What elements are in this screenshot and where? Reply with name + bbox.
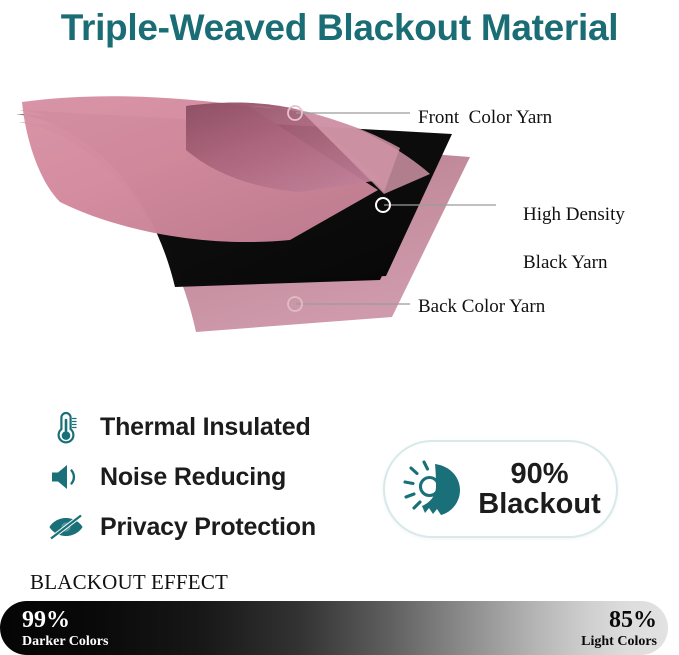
blackout-badge: 90% Blackout: [383, 440, 618, 538]
feature-list: Thermal Insulated Noise Reducing Privacy…: [46, 404, 376, 554]
callout-label-front-color-yarn: Front Color Yarn: [418, 106, 552, 130]
blackout-badge-percent: 90%: [471, 459, 608, 489]
callout-label-black-yarn-line2: Black Yarn: [523, 252, 607, 273]
feature-label-thermal-insulated: Thermal Insulated: [100, 413, 311, 442]
callout-label-back-color-yarn: Back Color Yarn: [418, 295, 545, 319]
page-title: Triple-Weaved Blackout Material: [0, 0, 679, 56]
feature-item-thermal-insulated: Thermal Insulated: [46, 404, 376, 450]
feature-label-noise-reducing: Noise Reducing: [100, 463, 286, 492]
thermometer-icon: [46, 407, 86, 447]
feature-item-noise-reducing: Noise Reducing: [46, 454, 376, 500]
callout-label-black-yarn: High Density Black Yarn: [504, 179, 625, 299]
callout-label-black-yarn-line1: High Density: [523, 204, 625, 225]
feature-item-privacy-protection: Privacy Protection: [46, 504, 376, 550]
blackout-effect-left-stat: 99% Darker Colors: [22, 608, 108, 649]
blackout-effect-right-label: Light Colors: [581, 635, 657, 649]
sun-curtain-icon: [399, 453, 471, 525]
speaker-sound-icon: [46, 457, 86, 497]
blackout-effect-right-percent: 85%: [581, 608, 657, 632]
blackout-badge-label: Blackout: [471, 489, 608, 519]
blackout-effect-left-label: Darker Colors: [22, 635, 108, 649]
blackout-effect-title: BLACKOUT EFFECT: [30, 570, 228, 595]
fabric-layers-diagram: Front Color Yarn High Density Black Yarn…: [0, 62, 679, 362]
blackout-badge-text: 90% Blackout: [471, 459, 616, 519]
blackout-effect-right-stat: 85% Light Colors: [581, 608, 657, 649]
eye-slash-icon: [46, 507, 86, 547]
feature-label-privacy-protection: Privacy Protection: [100, 513, 316, 542]
blackout-effect-left-percent: 99%: [22, 608, 108, 632]
